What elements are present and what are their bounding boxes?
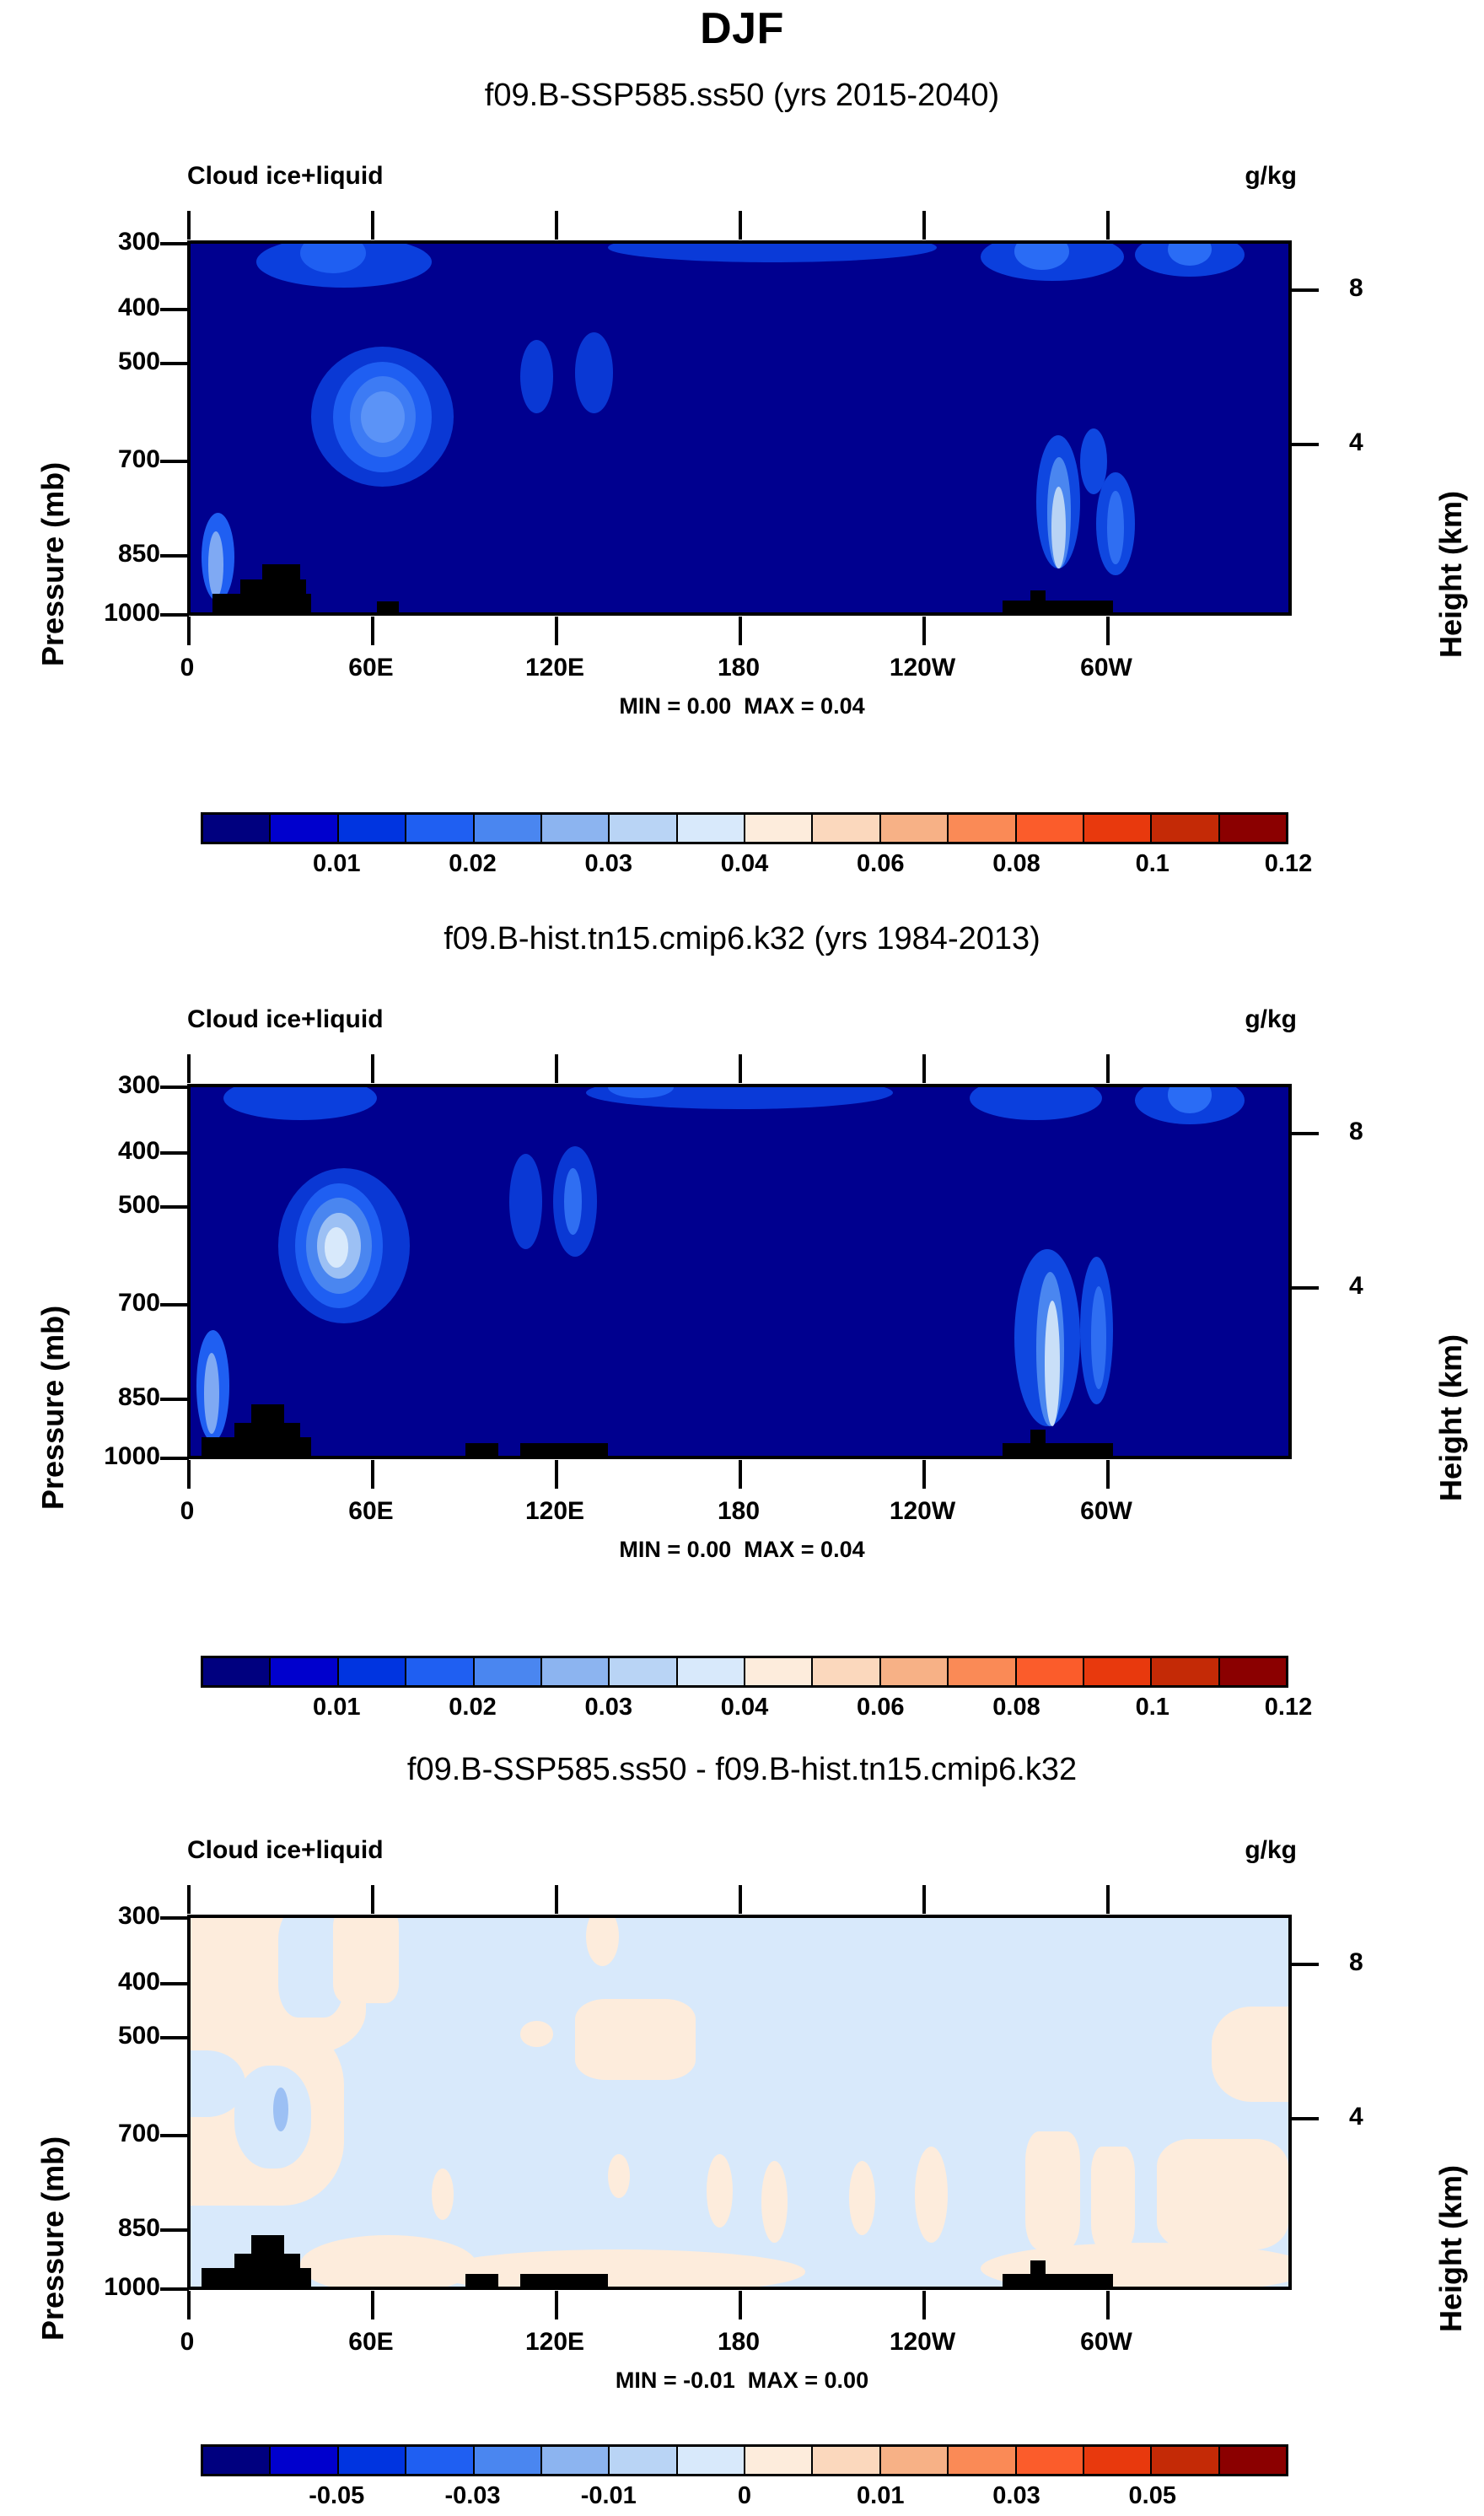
contour-blob <box>608 244 938 262</box>
x-tick-mark <box>739 1460 742 1489</box>
colorbar-cell-5 <box>542 2447 610 2474</box>
variable-label: Cloud ice+liquid <box>187 1005 384 1034</box>
y2-tick-mark <box>1290 2117 1319 2120</box>
x-tick-mark <box>187 617 191 645</box>
colorbar-cell-11 <box>949 815 1016 842</box>
colorbar-cell-14 <box>1152 1658 1219 1685</box>
colorbar-cell-7 <box>678 2447 745 2474</box>
colorbar-tick: 0.1 <box>1102 850 1203 878</box>
min-label: MIN = <box>616 2368 677 2393</box>
max-label: MAX = <box>748 2368 818 2393</box>
min-label: MIN = <box>619 1537 680 1562</box>
y-tick-mark <box>160 613 189 617</box>
x-tick-mark <box>555 211 558 240</box>
colorbar-labels: -0.05 -0.03 -0.01 0 0.01 0.03 0.05 <box>201 2482 1288 2516</box>
contour-blob <box>915 2147 948 2243</box>
colorbar-tick: 0.05 <box>1102 2482 1203 2510</box>
contour-blob <box>520 2021 553 2047</box>
min-value: -0.01 <box>683 2368 735 2393</box>
colorbar-cell-4 <box>475 1658 542 1685</box>
colorbar-cell-8 <box>745 815 813 842</box>
terrain-mask <box>465 2274 498 2287</box>
x-tick: 60W <box>1047 654 1165 682</box>
x-tick-mark <box>739 211 742 240</box>
colorbar-tick: -0.01 <box>558 2482 659 2510</box>
colorbar-cell-12 <box>1017 2447 1084 2474</box>
contour-blob <box>575 1999 696 2080</box>
colorbar-cell-2 <box>339 1658 406 1685</box>
y-tick: 500 <box>59 347 160 376</box>
y-tick-mark <box>160 1205 189 1209</box>
x-tick-mark <box>739 617 742 645</box>
y-tick: 400 <box>59 1968 160 1996</box>
terrain-mask <box>1030 2260 1046 2287</box>
x-tick-mark <box>371 1054 374 1083</box>
x-tick: 0 <box>128 2328 246 2357</box>
terrain-mask <box>377 601 399 612</box>
contour-blob <box>805 2257 1003 2287</box>
colorbar-cell-6 <box>610 815 677 842</box>
y-tick-mark <box>160 1151 189 1155</box>
max-value: 0.04 <box>820 693 865 719</box>
colorbar-tick: 0.06 <box>830 850 931 878</box>
contour-blob <box>208 531 223 598</box>
contour-blob <box>575 332 614 413</box>
colorbar-tick: 0.03 <box>558 850 659 878</box>
x-tick: 120W <box>863 654 981 682</box>
x-tick: 60E <box>312 654 430 682</box>
contour-blob <box>970 1087 1101 1120</box>
colorbar-tick: 0.01 <box>286 1694 387 1721</box>
contour-blob <box>520 340 553 413</box>
colorbar-tick: 0 <box>694 2482 795 2510</box>
colorbar-tick: 0.08 <box>966 1694 1067 1721</box>
x-tick-mark <box>371 211 374 240</box>
colorbar-cell-14 <box>1152 815 1219 842</box>
colorbar[interactable] <box>201 2444 1288 2476</box>
x-tick-mark <box>371 2291 374 2319</box>
y-tick-mark <box>160 2228 189 2232</box>
x-tick: 0 <box>128 654 246 682</box>
y-tick: 400 <box>59 294 160 322</box>
colorbar-cell-7 <box>678 815 745 842</box>
max-value: 0.00 <box>825 2368 869 2393</box>
variable-label: Cloud ice+liquid <box>187 1836 384 1865</box>
y-tick: 850 <box>59 2214 160 2243</box>
y2-axis-label: Height (km) <box>1433 2165 1469 2332</box>
x-tick-mark <box>922 617 926 645</box>
x-tick-mark <box>555 1885 558 1914</box>
colorbar-cell-2 <box>339 815 406 842</box>
colorbar-cell-9 <box>813 815 880 842</box>
colorbar-cell-8 <box>745 1658 813 1685</box>
terrain-mask <box>251 1404 284 1456</box>
x-tick-mark <box>187 1054 191 1083</box>
plot-field <box>191 1918 1288 2287</box>
colorbar-cell-4 <box>475 2447 542 2474</box>
max-label: MAX = <box>744 1537 814 1562</box>
x-tick: 120E <box>496 654 614 682</box>
y2-axis-label: Height (km) <box>1433 491 1469 658</box>
terrain-mask <box>1003 1443 1112 1456</box>
colorbar-cell-15 <box>1220 1658 1286 1685</box>
terrain-mask <box>465 1443 498 1456</box>
colorbar-cell-8 <box>745 2447 813 2474</box>
x-tick: 120E <box>496 1497 614 1526</box>
minmax-readout: MIN = -0.01 MAX = 0.00 <box>0 2368 1484 2394</box>
figure-title: DJF <box>0 3 1484 54</box>
y-tick: 300 <box>59 228 160 256</box>
y-tick: 1000 <box>59 599 160 628</box>
contour-blob <box>333 1918 399 2003</box>
y-tick: 1000 <box>59 1442 160 1471</box>
contour-blob <box>1051 487 1066 568</box>
terrain-mask <box>251 2235 284 2287</box>
y-tick: 500 <box>59 1191 160 1220</box>
y-tick-mark <box>160 2134 189 2137</box>
plot-field <box>191 1087 1288 1456</box>
panel-title: f09.B-hist.tn15.cmip6.k32 (yrs 1984-2013… <box>0 921 1484 957</box>
minmax-readout: MIN = 0.00 MAX = 0.04 <box>0 1537 1484 1563</box>
contour-blob <box>273 2088 288 2131</box>
terrain-mask <box>1003 2274 1112 2287</box>
y2-tick: 4 <box>1349 428 1417 457</box>
contour-blob <box>223 1087 377 1120</box>
x-tick-mark <box>555 2291 558 2319</box>
colorbar-tick: 0.02 <box>422 850 524 878</box>
contour-blob <box>707 2154 733 2228</box>
contour-plot <box>187 1915 1292 2290</box>
contour-blob <box>1107 491 1124 564</box>
units-label: g/kg <box>1245 162 1297 191</box>
colorbar-cell-15 <box>1220 2447 1286 2474</box>
x-tick: 120W <box>863 1497 981 1526</box>
colorbar-cell-9 <box>813 1658 880 1685</box>
x-tick: 120E <box>496 2328 614 2357</box>
terrain-mask <box>520 1443 608 1456</box>
colorbar-cell-9 <box>813 2447 880 2474</box>
colorbar-cell-10 <box>881 1658 949 1685</box>
min-label: MIN = <box>619 693 680 719</box>
x-tick-mark <box>739 1885 742 1914</box>
contour-blob <box>1091 2147 1135 2249</box>
colorbar-tick: 0.08 <box>966 850 1067 878</box>
colorbar-tick: 0.04 <box>694 850 795 878</box>
colorbar-cell-1 <box>271 2447 338 2474</box>
contour-plot <box>187 1084 1292 1459</box>
contour-blob <box>586 1918 619 1966</box>
colorbar-tick: 0.01 <box>830 2482 931 2510</box>
colorbar-cell-13 <box>1084 2447 1152 2474</box>
colorbar[interactable] <box>201 1656 1288 1688</box>
x-tick-mark <box>1106 211 1110 240</box>
contour-blob <box>564 1168 582 1235</box>
y-tick-mark <box>160 1086 189 1089</box>
y-tick: 500 <box>59 2022 160 2050</box>
y-tick: 400 <box>59 1137 160 1166</box>
y-tick-mark <box>160 1457 189 1460</box>
colorbar-cell-12 <box>1017 815 1084 842</box>
y-tick: 700 <box>59 1289 160 1317</box>
x-tick-mark <box>922 1054 926 1083</box>
max-value: 0.04 <box>820 1537 865 1562</box>
colorbar-tick: -0.03 <box>422 2482 524 2510</box>
y-tick-mark <box>160 308 189 311</box>
x-tick-mark <box>555 1054 558 1083</box>
colorbar-cell-2 <box>339 2447 406 2474</box>
y-tick: 300 <box>59 1071 160 1100</box>
x-tick-mark <box>187 1885 191 1914</box>
min-value: 0.00 <box>687 1537 732 1562</box>
y-tick-mark <box>160 1398 189 1401</box>
x-tick: 60E <box>312 2328 430 2357</box>
colorbar-cell-4 <box>475 815 542 842</box>
colorbar-cell-3 <box>406 1658 474 1685</box>
x-tick-mark <box>371 1885 374 1914</box>
colorbar-cell-0 <box>203 1658 271 1685</box>
x-tick: 120W <box>863 2328 981 2357</box>
y-tick: 700 <box>59 2120 160 2148</box>
colorbar-tick: 0.12 <box>1238 850 1339 878</box>
y-tick-mark <box>160 2036 189 2039</box>
panel-title: f09.B-SSP585.ss50 - f09.B-hist.tn15.cmip… <box>0 1752 1484 1788</box>
x-tick-mark <box>555 617 558 645</box>
colorbar-cell-6 <box>610 1658 677 1685</box>
x-tick: 180 <box>680 1497 798 1526</box>
colorbar-cell-15 <box>1220 815 1286 842</box>
terrain-mask <box>520 2274 608 2287</box>
colorbar-cell-10 <box>881 815 949 842</box>
colorbar-tick: -0.05 <box>286 2482 387 2510</box>
x-tick-mark <box>1106 1885 1110 1914</box>
terrain-mask <box>262 564 301 612</box>
y2-tick-mark <box>1290 443 1319 446</box>
terrain-mask <box>1030 1430 1046 1456</box>
colorbar-cell-13 <box>1084 1658 1152 1685</box>
x-tick: 0 <box>128 1497 246 1526</box>
x-tick-mark <box>371 617 374 645</box>
contour-blob <box>1025 2131 1080 2249</box>
x-tick-mark <box>187 2291 191 2319</box>
contour-blob <box>204 1353 219 1434</box>
colorbar-labels: 0.01 0.02 0.03 0.04 0.06 0.08 0.1 0.12 <box>201 850 1288 884</box>
colorbar-cell-12 <box>1017 1658 1084 1685</box>
contour-blob <box>1045 1301 1060 1426</box>
x-tick: 60E <box>312 1497 430 1526</box>
colorbar-cell-1 <box>271 815 338 842</box>
x-tick: 60W <box>1047 1497 1165 1526</box>
colorbar-labels: 0.01 0.02 0.03 0.04 0.06 0.08 0.1 0.12 <box>201 1694 1288 1727</box>
contour-blob <box>509 1154 542 1250</box>
colorbar-cell-1 <box>271 1658 338 1685</box>
x-tick-mark <box>187 211 191 240</box>
x-tick-mark <box>187 1460 191 1489</box>
x-tick: 60W <box>1047 2328 1165 2357</box>
y-tick: 1000 <box>59 2273 160 2302</box>
contour-blob <box>432 2169 454 2220</box>
terrain-mask <box>1003 601 1112 612</box>
colorbar-cell-7 <box>678 1658 745 1685</box>
x-tick-mark <box>1106 617 1110 645</box>
x-tick-mark <box>371 1460 374 1489</box>
y-tick-mark <box>160 1982 189 1985</box>
contour-blob <box>1212 2007 1288 2103</box>
colorbar-cell-10 <box>881 2447 949 2474</box>
colorbar-cell-14 <box>1152 2447 1219 2474</box>
colorbar-tick: 0.06 <box>830 1694 931 1721</box>
contour-blob <box>608 2154 630 2198</box>
y-tick: 850 <box>59 1383 160 1412</box>
x-tick-mark <box>922 2291 926 2319</box>
max-label: MAX = <box>744 693 814 719</box>
colorbar-cell-3 <box>406 815 474 842</box>
colorbar-tick: 0.04 <box>694 1694 795 1721</box>
colorbar-cell-3 <box>406 2447 474 2474</box>
y-tick: 850 <box>59 540 160 568</box>
colorbar-cell-0 <box>203 2447 271 2474</box>
y-tick-mark <box>160 460 189 463</box>
contour-blob <box>849 2161 875 2234</box>
contour-blob <box>1157 2139 1288 2249</box>
x-tick-mark <box>922 1460 926 1489</box>
y-tick: 300 <box>59 1902 160 1931</box>
variable-label: Cloud ice+liquid <box>187 162 384 191</box>
contour-blob <box>761 2161 788 2242</box>
plot-field <box>191 244 1288 612</box>
y2-tick: 8 <box>1349 1118 1417 1146</box>
colorbar-tick: 0.12 <box>1238 1694 1339 1721</box>
y-tick-mark <box>160 242 189 245</box>
y-tick-mark <box>160 554 189 558</box>
colorbar-cell-5 <box>542 815 610 842</box>
colorbar-tick: 0.03 <box>558 1694 659 1721</box>
y-tick-mark <box>160 2287 189 2291</box>
minmax-readout: MIN = 0.00 MAX = 0.04 <box>0 693 1484 719</box>
min-value: 0.00 <box>687 693 732 719</box>
colorbar-cell-6 <box>610 2447 677 2474</box>
x-tick-mark <box>922 211 926 240</box>
y2-tick: 8 <box>1349 1948 1417 1977</box>
colorbar-cell-11 <box>949 2447 1016 2474</box>
y-tick-mark <box>160 362 189 365</box>
units-label: g/kg <box>1245 1836 1297 1865</box>
x-tick-mark <box>1106 1460 1110 1489</box>
y2-tick-mark <box>1290 1963 1319 1966</box>
colorbar-tick: 0.01 <box>286 850 387 878</box>
panel-title: f09.B-SSP585.ss50 (yrs 2015-2040) <box>0 78 1484 114</box>
x-tick: 180 <box>680 2328 798 2357</box>
y-tick-mark <box>160 1303 189 1306</box>
colorbar-tick: 0.1 <box>1102 1694 1203 1721</box>
y2-tick-mark <box>1290 1132 1319 1135</box>
units-label: g/kg <box>1245 1005 1297 1034</box>
x-tick: 180 <box>680 654 798 682</box>
x-tick-mark <box>1106 2291 1110 2319</box>
y2-tick-mark <box>1290 1286 1319 1290</box>
x-tick-mark <box>1106 1054 1110 1083</box>
y-tick: 700 <box>59 445 160 474</box>
colorbar[interactable] <box>201 812 1288 844</box>
y2-tick: 4 <box>1349 2103 1417 2131</box>
contour-blob <box>1091 1286 1106 1389</box>
colorbar-cell-13 <box>1084 815 1152 842</box>
colorbar-cell-0 <box>203 815 271 842</box>
x-tick-mark <box>739 1054 742 1083</box>
y2-tick-mark <box>1290 288 1319 292</box>
x-tick-mark <box>922 1885 926 1914</box>
colorbar-tick: 0.02 <box>422 1694 524 1721</box>
y2-tick: 4 <box>1349 1272 1417 1301</box>
x-tick-mark <box>555 1460 558 1489</box>
colorbar-cell-11 <box>949 1658 1016 1685</box>
y-tick-mark <box>160 1916 189 1920</box>
colorbar-tick: 0.03 <box>966 2482 1067 2510</box>
x-tick-mark <box>739 2291 742 2319</box>
contour-blob <box>361 391 405 443</box>
colorbar-cell-5 <box>542 1658 610 1685</box>
y2-tick: 8 <box>1349 274 1417 303</box>
contour-plot <box>187 240 1292 616</box>
y2-axis-label: Height (km) <box>1433 1334 1469 1501</box>
